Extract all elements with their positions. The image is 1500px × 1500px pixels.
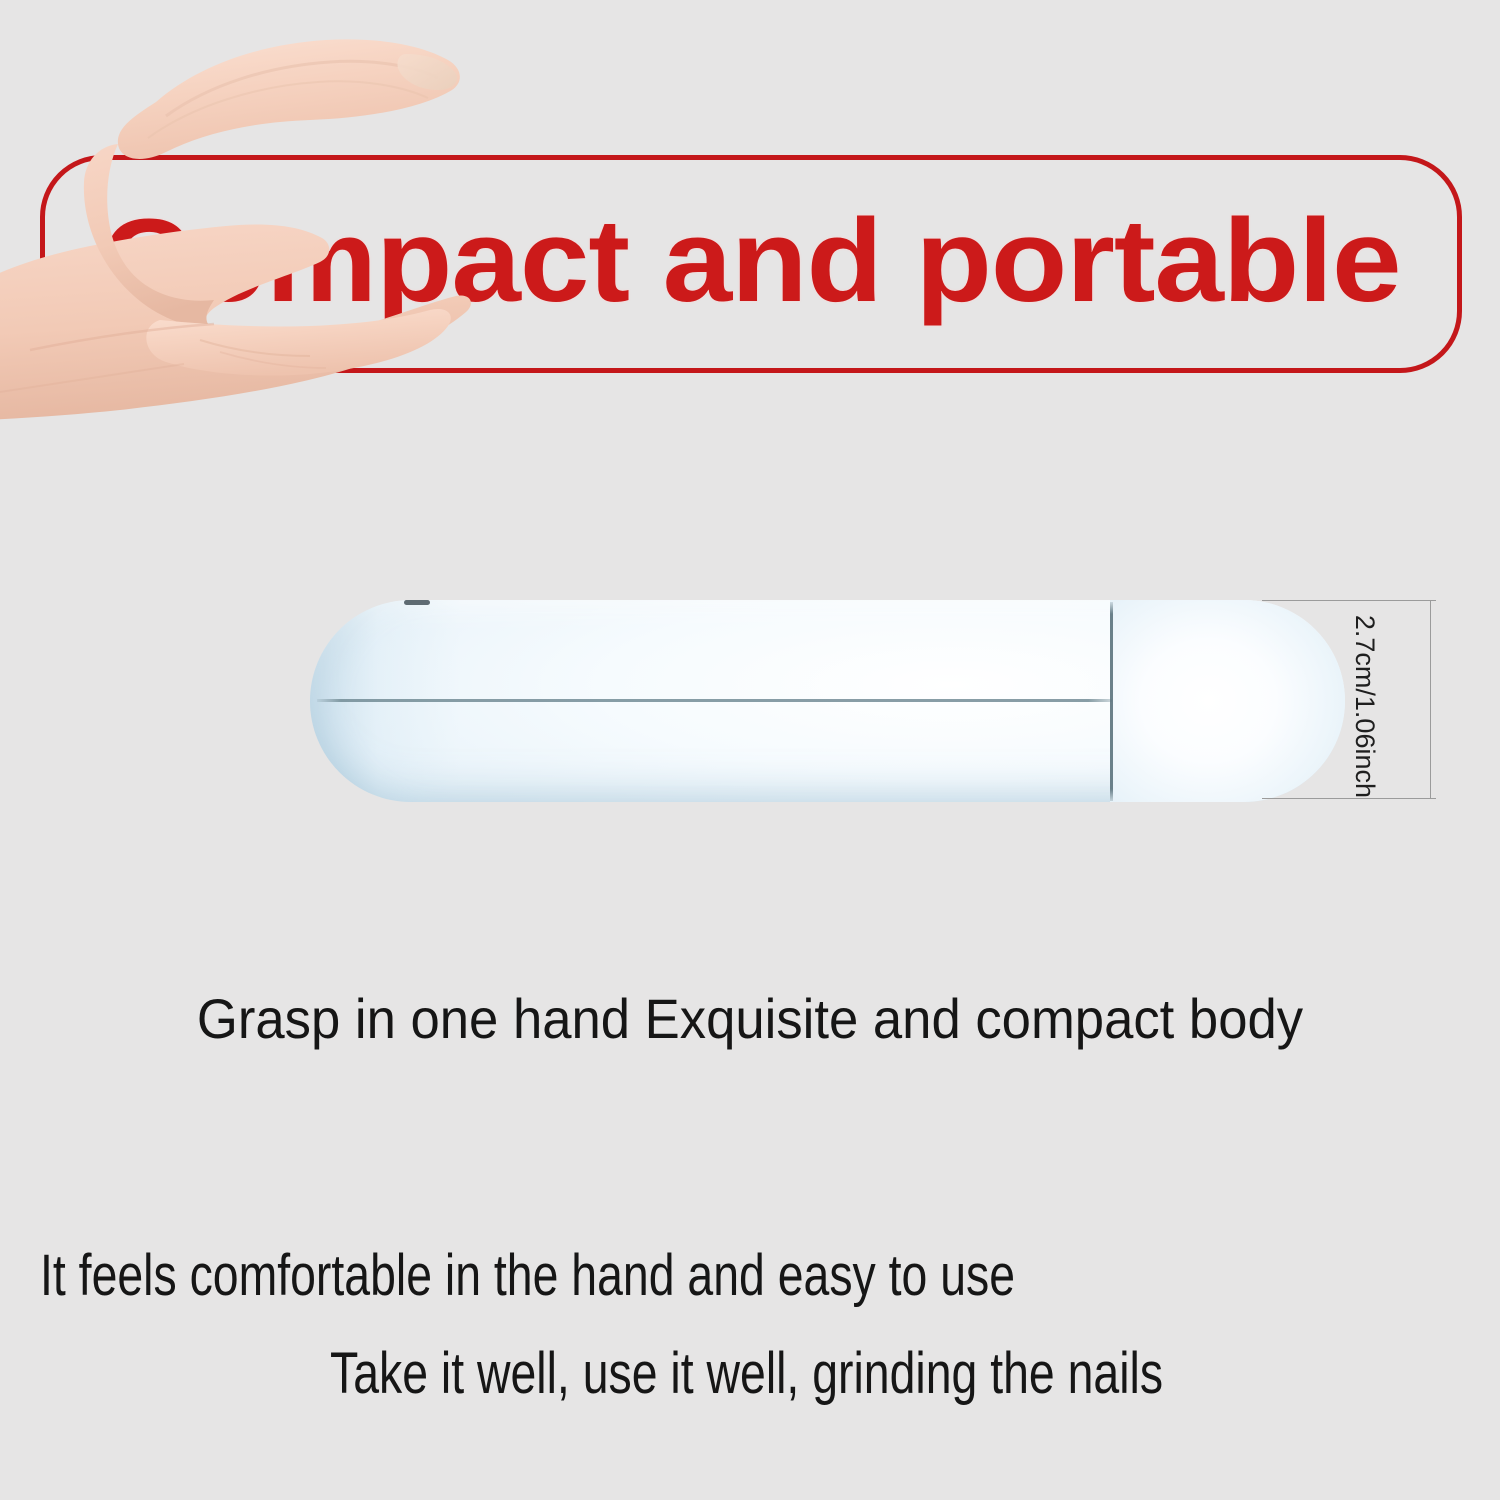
device-port-icon (404, 600, 430, 605)
product-marketing-image: Compact and portable (0, 0, 1500, 1500)
product-cap-seam (1110, 602, 1113, 801)
dimension-label: 2.7cm/1.06inch (1346, 600, 1380, 798)
dimension-line (1430, 600, 1431, 798)
caption-secondary-line-1: It feels comfortable in the hand and eas… (40, 1242, 1015, 1309)
hand-icon (0, 20, 490, 470)
product-horizontal-seam (317, 699, 1112, 702)
dimension-callout: 2.7cm/1.06inch (1262, 592, 1440, 806)
caption-secondary-line-2: Take it well, use it well, grinding the … (330, 1340, 1163, 1407)
caption-primary: Grasp in one hand Exquisite and compact … (45, 986, 1455, 1051)
dimension-tick-bottom (1262, 798, 1436, 799)
